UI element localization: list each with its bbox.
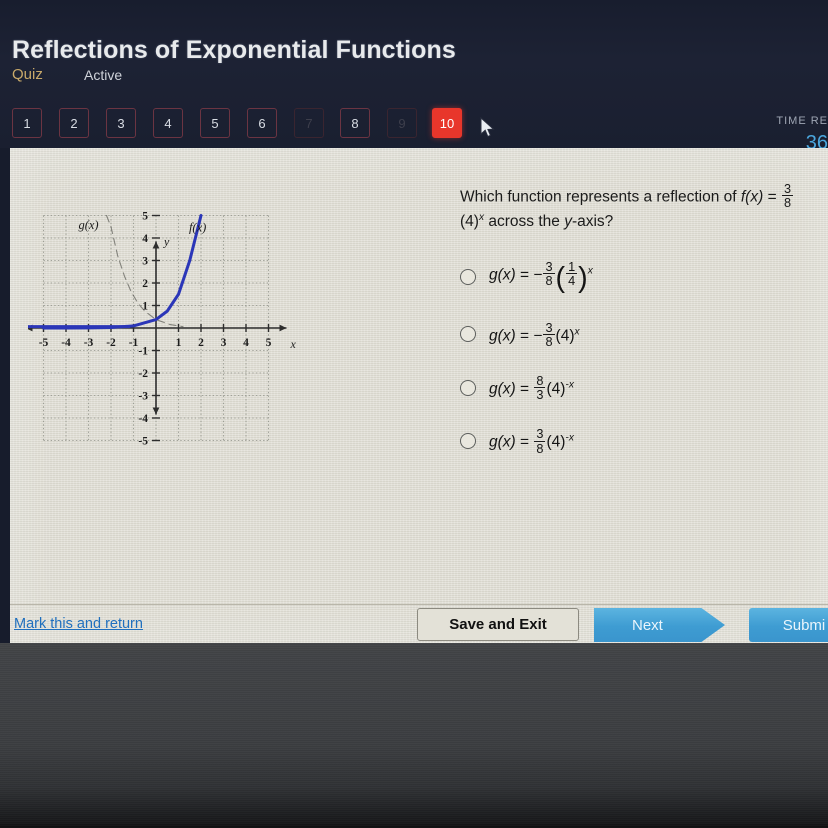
coefficient-fraction: 38 — [782, 182, 793, 209]
option-base: (4) — [546, 381, 565, 398]
svg-text:-5: -5 — [39, 337, 49, 349]
screenshot-root: Reflections of Exponential Functions Qui… — [0, 0, 828, 828]
option-equals: = — [520, 381, 529, 398]
question-text-part1: Which function represents a reflection o… — [460, 188, 741, 205]
time-remaining-label: TIME RE — [776, 115, 828, 127]
radio-button-icon[interactable] — [460, 380, 476, 396]
option-lhs: g(x) — [489, 381, 516, 398]
svg-text:4: 4 — [243, 337, 249, 349]
option-coefficient: 83 — [534, 374, 545, 401]
question-card: -5-4-3-2-112345-5-4-3-2-112345xyg(x)f(x)… — [10, 148, 828, 643]
option-a[interactable]: g(x) = −38(14)x — [460, 260, 828, 295]
fraction-denominator: 4 — [566, 273, 577, 287]
curve-label-gx: g(x) — [78, 218, 98, 232]
svg-text:-3: -3 — [138, 391, 148, 403]
fraction-numerator: 3 — [543, 260, 554, 273]
svg-text:2: 2 — [142, 278, 148, 290]
submit-button[interactable]: Submi — [749, 608, 828, 642]
question-nav-3[interactable]: 3 — [106, 108, 136, 138]
question-nav-label: 5 — [211, 116, 218, 131]
graph-svg: -5-4-3-2-112345-5-4-3-2-112345xyg(x)f(x) — [28, 178, 328, 458]
mark-this-and-return-link[interactable]: Mark this and return — [14, 616, 143, 632]
option-lhs: g(x) — [489, 327, 516, 344]
option-equals: = — [520, 434, 529, 451]
option-b[interactable]: g(x) = −38(4)x — [460, 321, 828, 348]
svg-text:-1: -1 — [129, 337, 139, 349]
svg-text:-2: -2 — [106, 337, 116, 349]
question-nav-2[interactable]: 2 — [59, 108, 89, 138]
question-text-part2: across the y-axis? — [484, 213, 613, 230]
open-bracket: ( — [556, 262, 566, 294]
answer-options: g(x) = −38(14)xg(x) = −38(4)xg(x) = 83(4… — [460, 260, 828, 455]
fraction-numerator: 3 — [534, 427, 545, 440]
y-axis-label: y — [163, 235, 170, 249]
fraction-denominator: 8 — [534, 441, 545, 455]
question-prompt: Which function represents a reflection o… — [460, 182, 828, 234]
svg-text:-1: -1 — [138, 346, 148, 358]
question-nav-label: 7 — [305, 116, 312, 131]
option-exponent: x — [588, 265, 593, 276]
option-coefficient: 38 — [543, 260, 554, 287]
option-inner-fraction: 14 — [566, 260, 577, 287]
question-base: (4) — [460, 213, 479, 230]
svg-text:5: 5 — [142, 211, 148, 223]
svg-text:-2: -2 — [138, 368, 148, 380]
svg-text:-3: -3 — [84, 337, 94, 349]
close-bracket: ) — [578, 262, 588, 294]
option-coefficient: 38 — [534, 427, 545, 454]
quiz-kind-label: Quiz — [12, 66, 43, 83]
svg-text:3: 3 — [142, 256, 148, 268]
x-axis-label: x — [290, 337, 297, 351]
question-nav-label: 9 — [398, 116, 405, 131]
next-button[interactable]: Next — [594, 608, 725, 642]
svg-text:-5: -5 — [138, 436, 148, 448]
option-expression: g(x) = 38(4)-x — [489, 427, 574, 454]
option-equals: = — [520, 266, 529, 283]
fraction-denominator: 8 — [782, 195, 793, 209]
fraction-denominator: 8 — [543, 334, 554, 348]
equals-sign: = — [763, 188, 781, 205]
svg-text:-4: -4 — [138, 413, 148, 425]
option-c[interactable]: g(x) = 83(4)-x — [460, 374, 828, 401]
fraction-numerator: 1 — [566, 260, 577, 273]
option-sign: − — [533, 327, 542, 344]
question-nav-10[interactable]: 10 — [432, 108, 462, 138]
option-coefficient: 38 — [543, 321, 554, 348]
option-sign: − — [533, 266, 542, 283]
radio-button-icon[interactable] — [460, 433, 476, 449]
quiz-header: Reflections of Exponential Functions Qui… — [0, 0, 828, 148]
option-lhs: g(x) — [489, 434, 516, 451]
option-equals: = — [520, 327, 529, 344]
question-nav-8[interactable]: 8 — [340, 108, 370, 138]
mouse-cursor-icon — [479, 117, 497, 139]
option-d[interactable]: g(x) = 38(4)-x — [460, 427, 828, 454]
option-expression: g(x) = 83(4)-x — [489, 374, 574, 401]
svg-text:3: 3 — [221, 337, 227, 349]
question-nav-6[interactable]: 6 — [247, 108, 277, 138]
save-and-exit-button[interactable]: Save and Exit — [417, 608, 579, 641]
option-expression: g(x) = −38(4)x — [489, 321, 580, 348]
svg-text:2: 2 — [198, 337, 204, 349]
fraction-numerator: 3 — [543, 321, 554, 334]
svg-text:1: 1 — [176, 337, 182, 349]
question-nav-4[interactable]: 4 — [153, 108, 183, 138]
fraction-numerator: 3 — [782, 182, 793, 195]
question-body: Which function represents a reflection o… — [460, 182, 828, 455]
radio-button-icon[interactable] — [460, 326, 476, 342]
quiz-status-label: Active — [84, 67, 122, 83]
svg-text:5: 5 — [266, 337, 272, 349]
question-nav-label: 10 — [440, 116, 454, 131]
question-nav-label: 3 — [117, 116, 124, 131]
option-exponent: x — [574, 326, 579, 337]
question-nav-label: 4 — [164, 116, 171, 131]
page-title: Reflections of Exponential Functions — [12, 36, 456, 65]
option-exponent: -x — [565, 433, 574, 444]
option-base: (4) — [546, 434, 565, 451]
option-exponent: -x — [565, 379, 574, 390]
question-nav-label: 8 — [351, 116, 358, 131]
question-nav-1[interactable]: 1 — [12, 108, 42, 138]
svg-text:4: 4 — [142, 233, 148, 245]
svg-text:1: 1 — [142, 301, 148, 313]
fraction-denominator: 3 — [534, 387, 545, 401]
option-lhs: g(x) — [489, 266, 516, 283]
desk-background — [0, 643, 828, 828]
question-nav-9[interactable]: 9 — [387, 108, 417, 138]
coordinate-graph: -5-4-3-2-112345-5-4-3-2-112345xyg(x)f(x) — [28, 178, 328, 458]
question-nav-5[interactable]: 5 — [200, 108, 230, 138]
question-nav-label: 6 — [258, 116, 265, 131]
fraction-numerator: 8 — [534, 374, 545, 387]
radio-button-icon[interactable] — [460, 269, 476, 285]
curve-fx — [44, 216, 202, 328]
question-nav-label: 1 — [23, 116, 30, 131]
option-base: (4) — [556, 327, 575, 344]
svg-text:-4: -4 — [61, 337, 71, 349]
function-fx: f(x) — [741, 188, 763, 205]
footer-divider — [10, 604, 828, 605]
question-nav-label: 2 — [70, 116, 77, 131]
question-nav-7[interactable]: 7 — [294, 108, 324, 138]
fraction-denominator: 8 — [543, 273, 554, 287]
option-expression: g(x) = −38(14)x — [489, 260, 593, 295]
curve-label-fx: f(x) — [189, 220, 206, 234]
